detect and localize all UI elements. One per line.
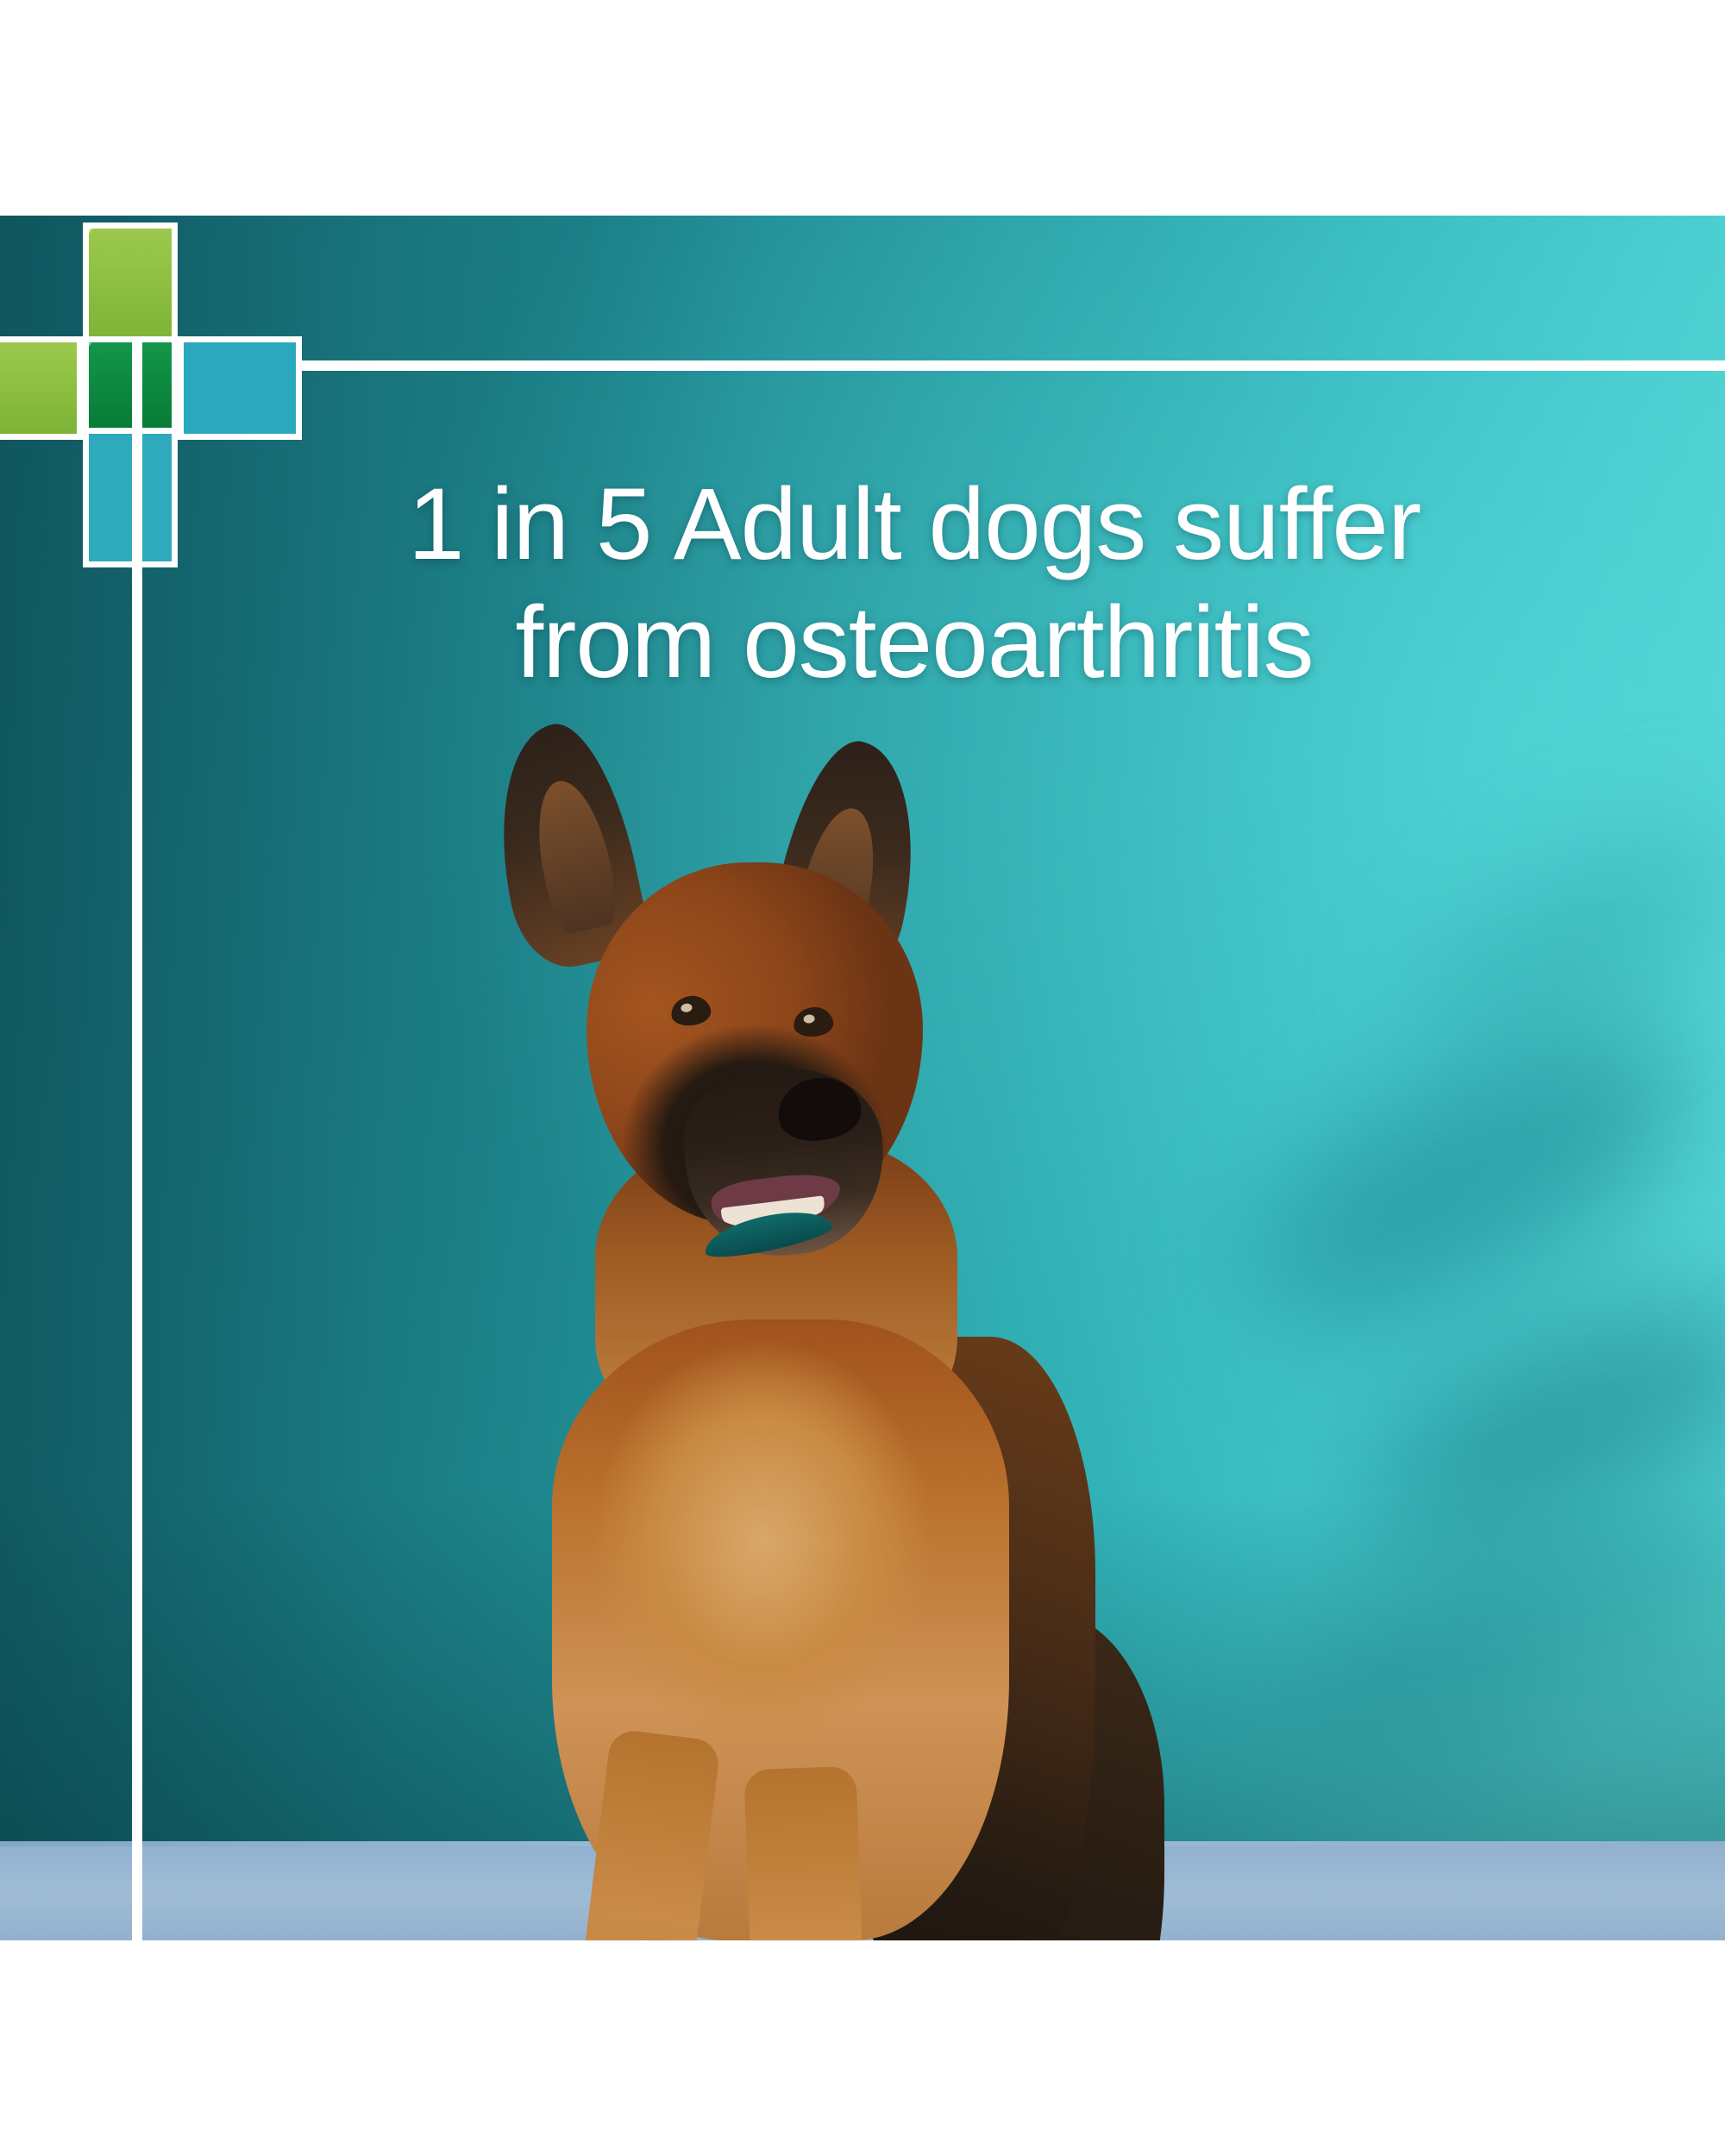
bottom-white-margin	[0, 1940, 1725, 2156]
logo-arm-top	[83, 222, 178, 348]
logo-vertical-rule	[132, 342, 142, 1940]
logo-center	[83, 336, 178, 440]
poster-canvas: 1 in 5 Adult dogs suffer from osteoarthr…	[0, 0, 1725, 2156]
dog-front-leg-right	[743, 1766, 869, 1940]
leaf-cross-logo-icon	[0, 222, 302, 533]
top-white-margin	[0, 0, 1725, 216]
logo-arm-bottom	[83, 428, 178, 567]
logo-horizontal-rule	[298, 360, 1725, 371]
logo-arm-left	[0, 336, 83, 440]
german-shepherd-dog	[535, 733, 1294, 1871]
logo-arm-right	[178, 336, 302, 440]
